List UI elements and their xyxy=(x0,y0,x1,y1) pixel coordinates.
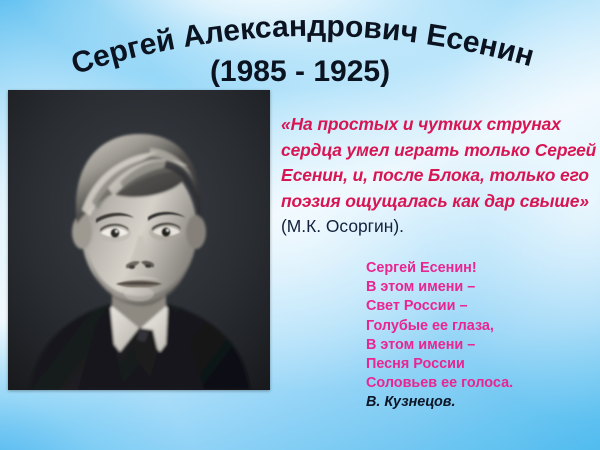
poem-line: Голубые ее глаза, xyxy=(366,317,586,336)
poem-line: В этом имени – xyxy=(366,336,586,355)
title-line-2-text: (1985 - 1925) xyxy=(210,55,390,88)
quotation-block: «На простых и чутких струнах сердца умел… xyxy=(281,112,597,240)
poem-line: Сергей Есенин! xyxy=(366,259,586,278)
poem-line: В этом имени – xyxy=(366,278,586,297)
poem-line: Соловьев ее голоса. xyxy=(366,374,586,393)
portrait-photo xyxy=(8,90,270,390)
slide-canvas: Сергей Александрович Есенин (1985 - 1925… xyxy=(0,0,600,450)
slide-title: Сергей Александрович Есенин (1985 - 1925… xyxy=(0,2,600,86)
quotation-text: «На простых и чутких струнах сердца умел… xyxy=(281,114,596,211)
poem-line: Песня России xyxy=(366,355,586,374)
quotation-attribution: (М.К. Осоргин). xyxy=(281,216,404,236)
poem-author: В. Кузнецов. xyxy=(366,393,586,412)
poem-block: Сергей Есенин! В этом имени – Свет Росси… xyxy=(366,259,586,413)
poem-line: Свет России – xyxy=(366,297,586,316)
